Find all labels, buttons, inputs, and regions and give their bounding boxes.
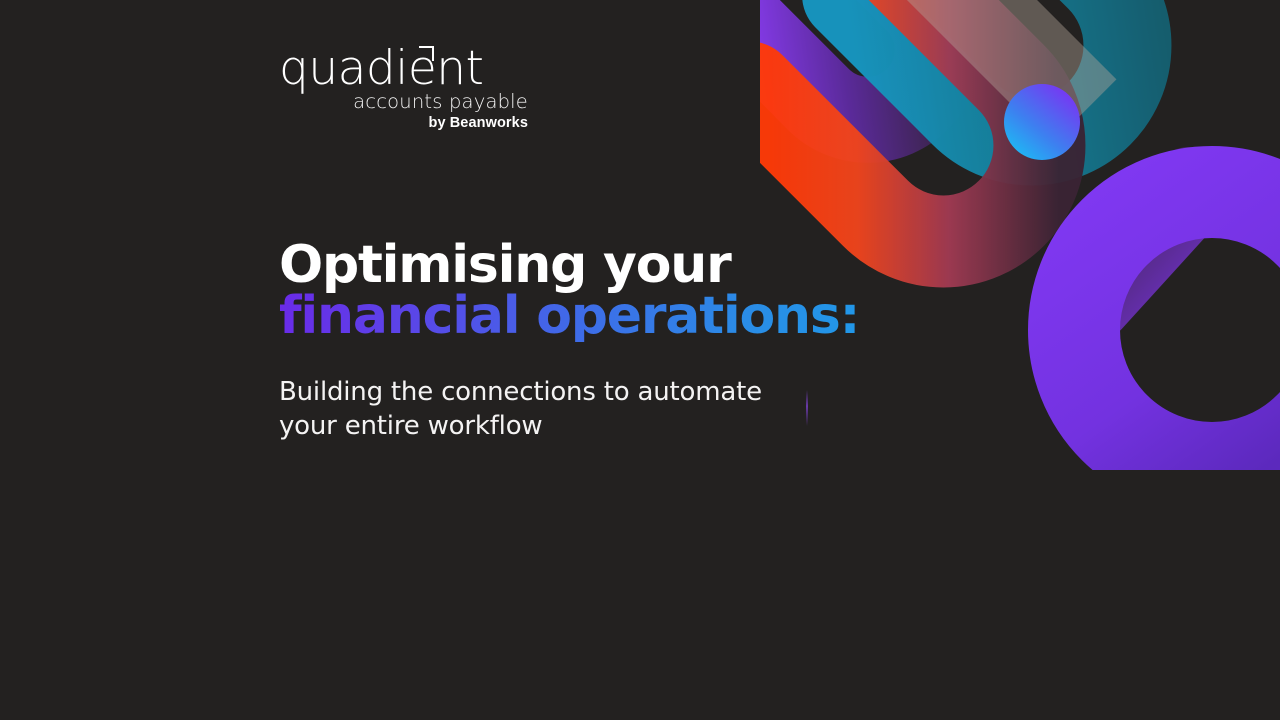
subtitle-line-1: Building the connections to automate <box>279 375 839 409</box>
headline: Optimising your financial operations: <box>279 240 899 342</box>
corner-bracket-icon <box>419 46 434 61</box>
slide-canvas: quadient accounts payable by Beanworks O… <box>0 0 1280 720</box>
purple-hook-shape <box>760 0 967 149</box>
subtitle-line-2: your entire workflow <box>279 409 839 443</box>
headline-line-1: Optimising your <box>279 240 899 291</box>
overlay-band-shape <box>893 0 1084 112</box>
gradient-circle-accent <box>1004 84 1080 160</box>
logo-wordmark: quadient <box>279 44 529 94</box>
quadient-logo: quadient accounts payable by Beanworks <box>279 44 529 132</box>
logo-byline: by Beanworks <box>279 114 529 132</box>
headline-line-2: financial operations: <box>279 291 899 342</box>
teal-hook-shape <box>846 0 1167 181</box>
purple-ring-shape <box>1074 190 1280 468</box>
subtitle: Building the connections to automate you… <box>279 375 839 443</box>
